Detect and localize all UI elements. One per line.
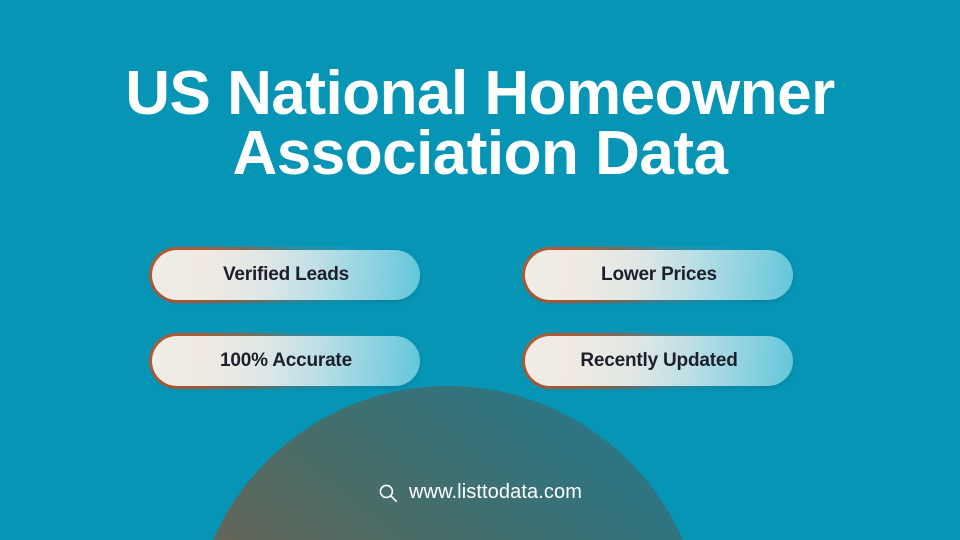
feature-pill-100-accurate[interactable]: 100% Accurate: [152, 336, 420, 386]
feature-pill-recently-updated[interactable]: Recently Updated: [525, 336, 793, 386]
decorative-gradient-circle: [192, 386, 704, 540]
feature-pill-label: Verified Leads: [223, 264, 349, 286]
poster-canvas: US National Homeowner Association Data V…: [0, 0, 960, 540]
feature-pill-label: Lower Prices: [601, 264, 717, 286]
website-url-text: www.listtodata.com: [409, 481, 582, 504]
title-line-2: Association Data: [0, 126, 960, 182]
feature-pill-label: 100% Accurate: [220, 350, 352, 372]
feature-pill-lower-prices[interactable]: Lower Prices: [525, 250, 793, 300]
footer-website-link[interactable]: www.listtodata.com: [0, 481, 960, 504]
feature-pill-grid: Verified Leads Lower Prices 100% Accurat…: [152, 250, 782, 386]
title-line-1: US National Homeowner: [0, 66, 960, 122]
search-icon: [378, 483, 398, 503]
page-title: US National Homeowner Association Data: [0, 66, 960, 182]
feature-pill-label: Recently Updated: [580, 350, 737, 372]
feature-pill-verified-leads[interactable]: Verified Leads: [152, 250, 420, 300]
